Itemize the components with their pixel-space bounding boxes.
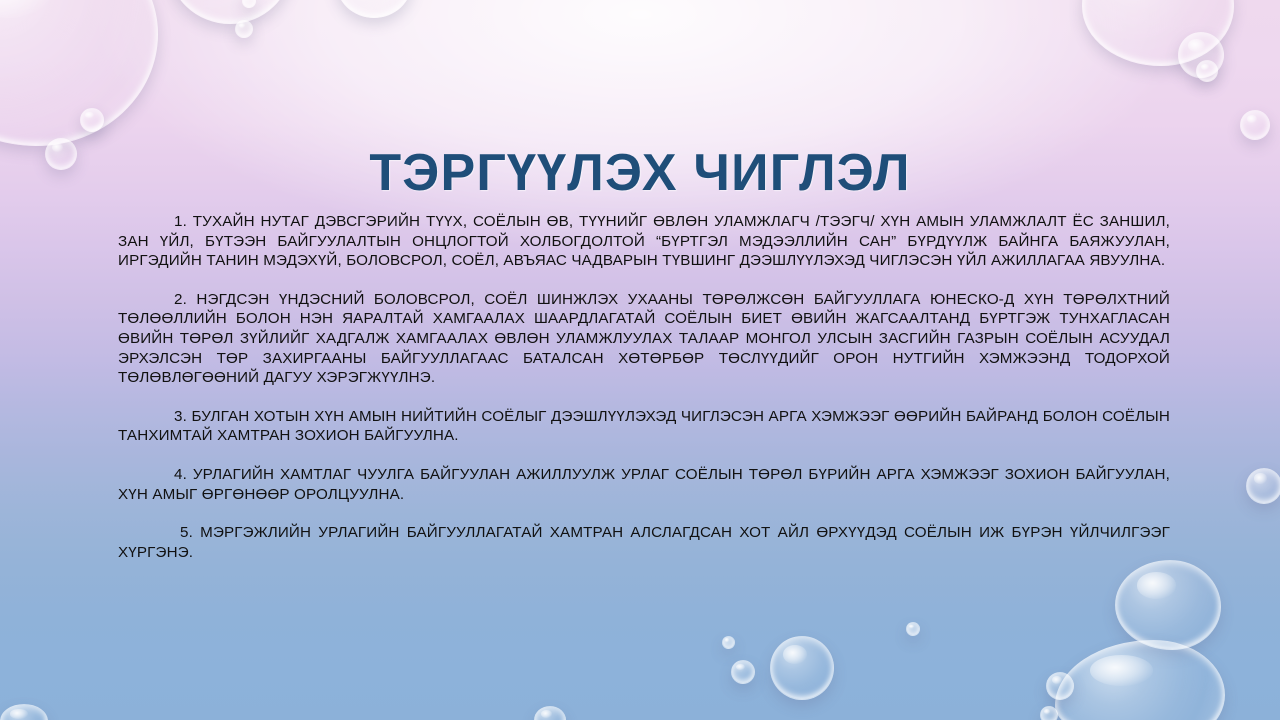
slide-title: ТЭРГҮҮЛЭХ ЧИГЛЭЛ xyxy=(0,143,1280,203)
body-paragraph-4: 4. УРЛАГИЙН ХАМТЛАГ ЧУУЛГА БАЙГУУЛАН АЖИ… xyxy=(118,465,1170,504)
slide-body: 1. ТУХАЙН НУТАГ ДЭВСГЭРИЙН ТҮҮХ, СОЁЛЫН … xyxy=(118,212,1170,562)
presentation-slide: ТЭРГҮҮЛЭХ ЧИГЛЭЛ 1. ТУХАЙН НУТАГ ДЭВСГЭР… xyxy=(0,0,1280,720)
slide-content: ТЭРГҮҮЛЭХ ЧИГЛЭЛ 1. ТУХАЙН НУТАГ ДЭВСГЭР… xyxy=(0,0,1280,720)
body-paragraph-2: 2. НЭГДСЭН ҮНДЭСНИЙ БОЛОВСРОЛ, СОЁЛ ШИНЖ… xyxy=(118,290,1170,388)
body-paragraph-1: 1. ТУХАЙН НУТАГ ДЭВСГЭРИЙН ТҮҮХ, СОЁЛЫН … xyxy=(118,212,1170,271)
body-paragraph-3: 3. БУЛГАН ХОТЫН ХҮН АМЫН НИЙТИЙН СОЁЛЫГ … xyxy=(118,407,1170,446)
body-paragraph-5: 5. МЭРГЭЖЛИЙН УРЛАГИЙН БАЙГУУЛЛАГАТАЙ ХА… xyxy=(118,523,1170,562)
